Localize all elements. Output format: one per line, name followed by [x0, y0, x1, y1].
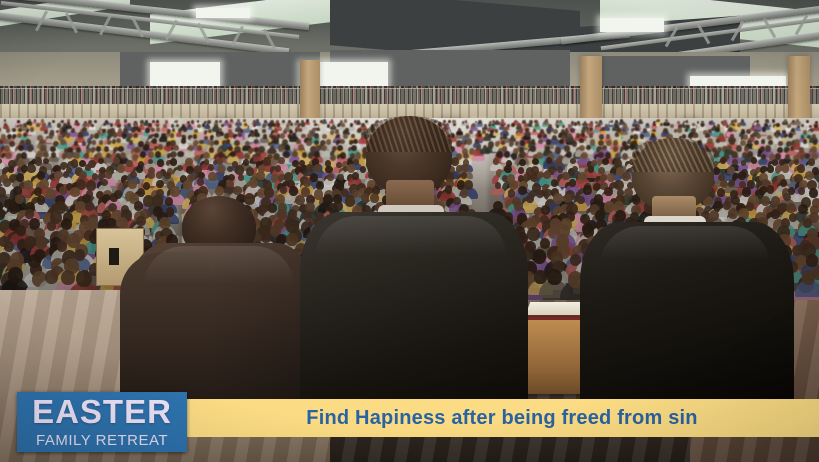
balcony-window [196, 8, 250, 18]
speaker-center-hair [366, 116, 452, 152]
caption-banner-text: Find Hapiness after being freed from sin [306, 407, 697, 430]
photo-canvas: EASTER FAMILY RETREAT Find Hapiness afte… [0, 0, 819, 462]
speaker-right-hair [632, 138, 714, 172]
event-badge-title: EASTER [32, 395, 172, 428]
jacket-sheen [600, 226, 770, 276]
jacket-sheen [316, 216, 506, 272]
caption-banner: Find Hapiness after being freed from sin [185, 399, 819, 437]
event-badge-subtitle: FAMILY RETREAT [36, 433, 168, 448]
balcony-window [600, 18, 664, 32]
jacket-sheen [144, 246, 294, 300]
balcony-window [150, 62, 220, 88]
event-badge: EASTER FAMILY RETREAT [17, 392, 187, 452]
